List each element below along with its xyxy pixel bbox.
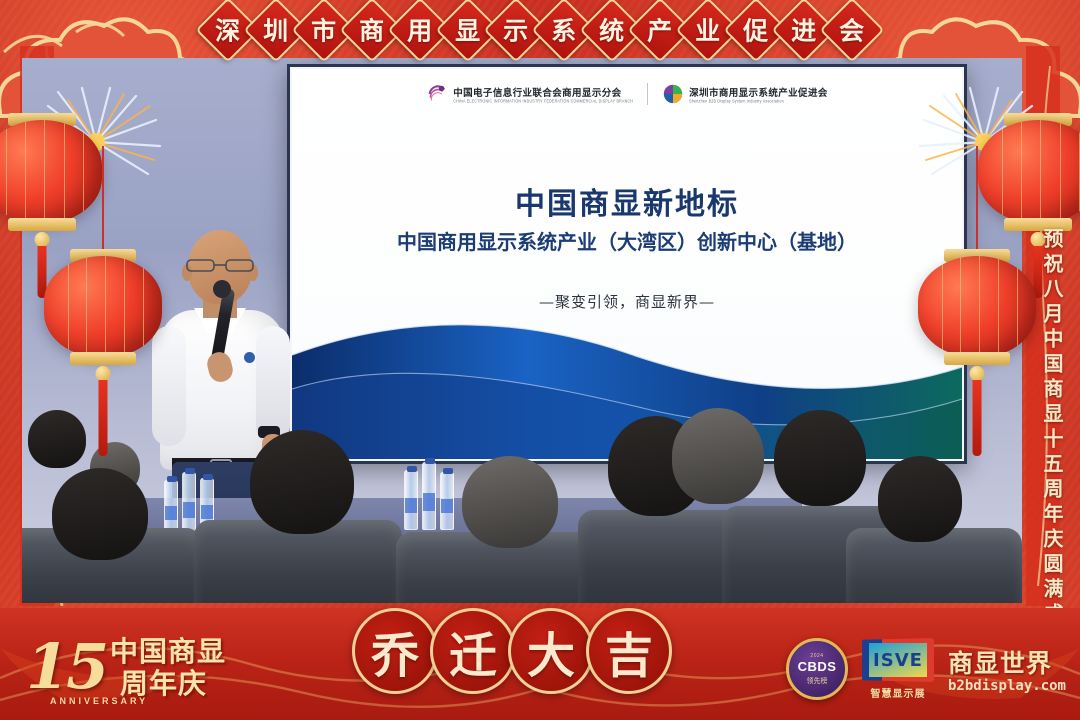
title-char: 统 [599, 12, 624, 48]
lantern-cap-icon [70, 352, 136, 365]
b2bdisplay-logo[interactable]: 商显世界 b2bdisplay.com [948, 644, 1066, 694]
cbds-cn: 领先榜 [806, 676, 827, 686]
water-bottle [440, 472, 454, 530]
isve-logo[interactable]: ISVE 智慧显示展 [862, 638, 934, 700]
event-photo: 中国电子信息行业联合会商用显示分会 CHINA ELECTRONIC INFOR… [22, 58, 1022, 603]
slide-logo-bar: 中国电子信息行业联合会商用显示分会 CHINA ELECTRONIC INFOR… [292, 83, 962, 105]
bdsa-logo-cn: 深圳市商用显示系统产业促进会 [689, 85, 828, 99]
title-char: 示 [503, 12, 528, 48]
audience-head [462, 456, 558, 548]
ceif-logo-icon [426, 83, 448, 105]
headline-char-medallion: 大 [508, 608, 594, 694]
lantern-tassel-icon [973, 380, 982, 456]
audience-head [672, 408, 764, 504]
title-char: 显 [455, 12, 480, 48]
anniversary-english: ANNIVERSARY [50, 696, 148, 706]
headline-char: 乔 [371, 616, 419, 686]
logo-divider [647, 83, 648, 105]
lantern-cap-icon [8, 218, 75, 232]
slide-subtitle: 中国商用显示系统产业（大湾区）创新中心（基地） [292, 226, 962, 255]
bdsa-logo-en: Shenzhen B2B Display System Industry Ass… [689, 99, 828, 104]
headline-char-medallion: 迁 [430, 608, 516, 694]
anniversary-number: 15 [26, 630, 106, 703]
bdsa-logo-icon [662, 83, 684, 105]
isve-cn: 智慧显示展 [870, 685, 925, 700]
bdsa-logo: 深圳市商用显示系统产业促进会 Shenzhen B2B Display Syst… [662, 83, 828, 105]
isve-mark-icon: ISVE [862, 638, 934, 682]
title-char: 促 [743, 12, 768, 48]
headline-char-medallion: 吉 [586, 608, 672, 694]
audience-head [878, 456, 962, 542]
b2bdisplay-url: b2bdisplay.com [948, 678, 1066, 694]
lantern-body-icon [918, 256, 1036, 358]
ceif-logo: 中国电子信息行业联合会商用显示分会 CHINA ELECTRONIC INFOR… [426, 83, 633, 105]
lantern-right [918, 256, 1036, 358]
title-char: 进 [791, 12, 816, 48]
audience-head [774, 410, 866, 506]
headline-char-medallion: 乔 [352, 608, 438, 694]
lantern-tassel-icon [99, 380, 108, 456]
cbds-logo[interactable]: 2024 CBDS 领先榜 [786, 638, 848, 700]
title-char: 商 [359, 12, 384, 48]
bottom-headline: 乔迁大吉 [352, 608, 664, 694]
b2bdisplay-cn: 商显世界 [948, 644, 1052, 680]
anniversary-logo: 15 中国商显 周年庆 ANNIVERSARY [24, 616, 239, 708]
title-char: 用 [407, 12, 432, 48]
title-char: 产 [647, 12, 672, 48]
presentation-slide: 中国电子信息行业联合会商用显示分会 CHINA ELECTRONIC INFOR… [292, 69, 962, 459]
lantern-bead-icon [96, 366, 111, 381]
led-video-wall: 中国电子信息行业联合会商用显示分会 CHINA ELECTRONIC INFOR… [287, 64, 967, 464]
ceif-logo-en: CHINA ELECTRONIC INFORMATION INDUSTRY FE… [453, 99, 633, 104]
cbds-name: CBDS [798, 659, 837, 674]
title-char: 市 [311, 12, 336, 48]
sponsor-logos: 2024 CBDS 领先榜 ISVE 智慧显示展 商显世界 b2bdisplay… [786, 638, 1066, 700]
speaker-glasses-icon [186, 258, 254, 273]
water-bottle [422, 462, 436, 530]
top-title-banner: 深圳市商用显示系统产业促进会 [0, 0, 1080, 60]
lantern-bead-icon [35, 232, 50, 247]
title-char: 业 [695, 12, 720, 48]
audience-head [250, 430, 354, 534]
lantern-top-left [0, 120, 102, 224]
water-bottle [404, 470, 418, 530]
isve-name: ISVE [873, 650, 923, 671]
speaker-shirt-badge [244, 352, 255, 363]
headline-char: 大 [527, 616, 575, 686]
title-char: 圳 [263, 12, 288, 48]
lantern-body-icon [978, 120, 1080, 224]
water-bottle [182, 472, 196, 536]
title-char-plaque: 会 [819, 0, 884, 63]
title-char: 深 [215, 12, 240, 48]
audience-head [52, 468, 148, 560]
title-char: 系 [551, 12, 576, 48]
lantern-body-icon [44, 256, 162, 358]
vertical-greeting-text: 预祝八月中国商显十五周年庆圆满成功 [1028, 228, 1062, 653]
headline-char: 吉 [605, 616, 653, 686]
lantern-left [44, 256, 162, 358]
audience-head [28, 410, 86, 468]
slide-title: 中国商显新地标 [292, 179, 962, 223]
poster-root: 中国电子信息行业联合会商用显示分会 CHINA ELECTRONIC INFOR… [0, 0, 1080, 720]
lantern-body-icon [0, 120, 102, 224]
bottom-banner: 15 中国商显 周年庆 ANNIVERSARY 乔迁大吉 2024 CBDS 领… [0, 608, 1080, 720]
headline-char: 迁 [449, 616, 497, 686]
lantern-top-right [978, 120, 1080, 224]
lantern-bead-icon [970, 366, 985, 381]
lantern-cap-icon [944, 352, 1010, 365]
top-title-row: 深圳市商用显示系统产业促进会 [0, 7, 1080, 53]
title-char: 会 [839, 12, 864, 48]
ceif-logo-cn: 中国电子信息行业联合会商用显示分会 [453, 85, 633, 99]
